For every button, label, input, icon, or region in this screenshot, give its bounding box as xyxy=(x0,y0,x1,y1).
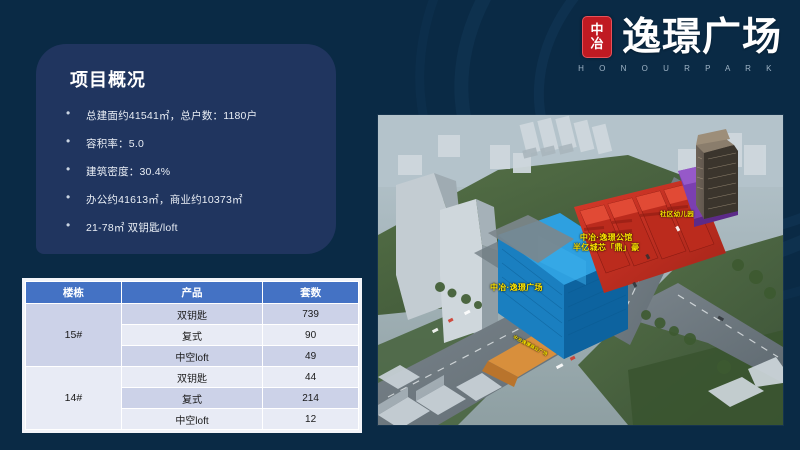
render-label-plaza: 中冶·逸璟广场 xyxy=(490,283,543,293)
seal-char-top: 中 xyxy=(590,23,603,37)
logo-subtitle: H O N O U R P A R K xyxy=(578,64,778,73)
cell-product: 中空loft xyxy=(121,346,262,367)
logo-name: 逸璟广场 xyxy=(622,18,782,57)
logo-row: 中 冶 逸璟广场 xyxy=(582,16,782,58)
render-label-mansion-line1: 中冶·逸璟公馆 xyxy=(580,233,633,242)
panel-bullet-list: 总建面约41541㎡，总户数：1180户 容积率：5.0 建筑密度：30.4% … xyxy=(58,108,314,235)
cell-product: 双钥匙 xyxy=(121,304,262,325)
unit-breakdown-table-wrapper: 楼栋 产品 套数 15# 双钥匙 739 复式 90 中空loft 49 xyxy=(22,278,362,433)
render-label-mansion: 中冶·逸璟公馆 半亿城芯「鼎」豪 xyxy=(573,233,639,254)
bullet-item-2: 建筑密度：30.4% xyxy=(58,164,314,179)
column-header-product: 产品 xyxy=(121,282,262,304)
table-row: 14# 双钥匙 44 xyxy=(26,367,359,388)
cell-product: 复式 xyxy=(121,388,262,409)
cell-product: 复式 xyxy=(121,325,262,346)
zhongye-seal-icon: 中 冶 xyxy=(582,16,612,58)
cell-building-14: 14# xyxy=(26,367,122,430)
bullet-item-3: 办公约41613㎡，商业约10373㎡ xyxy=(58,192,314,207)
seal-char-bottom: 冶 xyxy=(590,37,603,51)
table-header-row: 楼栋 产品 套数 xyxy=(26,282,359,304)
cell-count: 44 xyxy=(263,367,359,388)
column-header-building: 楼栋 xyxy=(26,282,122,304)
panel-title: 项目概况 xyxy=(70,66,314,92)
cell-count: 49 xyxy=(263,346,359,367)
cell-product: 中空loft xyxy=(121,409,262,430)
bullet-item-4: 21-78㎡ 双钥匙/loft xyxy=(58,220,314,235)
render-label-kindergarten: 社区幼儿园 xyxy=(660,211,694,219)
aerial-rendering-image: 中冶·逸璟公馆 半亿城芯「鼎」豪 中冶·逸璟广场 社区幼儿园 中冶逸璟商业广场 xyxy=(378,115,783,425)
unit-breakdown-table: 楼栋 产品 套数 15# 双钥匙 739 复式 90 中空loft 49 xyxy=(25,281,359,430)
cell-count: 12 xyxy=(263,409,359,430)
render-label-mansion-line2: 半亿城芯「鼎」豪 xyxy=(573,243,639,252)
brand-logo: 中 冶 逸璟广场 H O N O U R P A R K xyxy=(578,16,782,73)
project-overview-panel: 项目概况 总建面约41541㎡，总户数：1180户 容积率：5.0 建筑密度：3… xyxy=(36,44,336,254)
cell-count: 90 xyxy=(263,325,359,346)
cell-count: 214 xyxy=(263,388,359,409)
cell-product: 双钥匙 xyxy=(121,367,262,388)
bullet-item-1: 容积率：5.0 xyxy=(58,136,314,151)
aerial-rendering-svg xyxy=(378,115,783,425)
bullet-item-0: 总建面约41541㎡，总户数：1180户 xyxy=(58,108,314,123)
cell-building-15: 15# xyxy=(26,304,122,367)
slide-canvas: 中 冶 逸璟广场 H O N O U R P A R K 项目概况 总建面约41… xyxy=(0,0,800,450)
cell-count: 739 xyxy=(263,304,359,325)
table-row: 15# 双钥匙 739 xyxy=(26,304,359,325)
table-head: 楼栋 产品 套数 xyxy=(26,282,359,304)
table-body: 15# 双钥匙 739 复式 90 中空loft 49 14# 双钥匙 44 xyxy=(26,304,359,430)
column-header-count: 套数 xyxy=(263,282,359,304)
